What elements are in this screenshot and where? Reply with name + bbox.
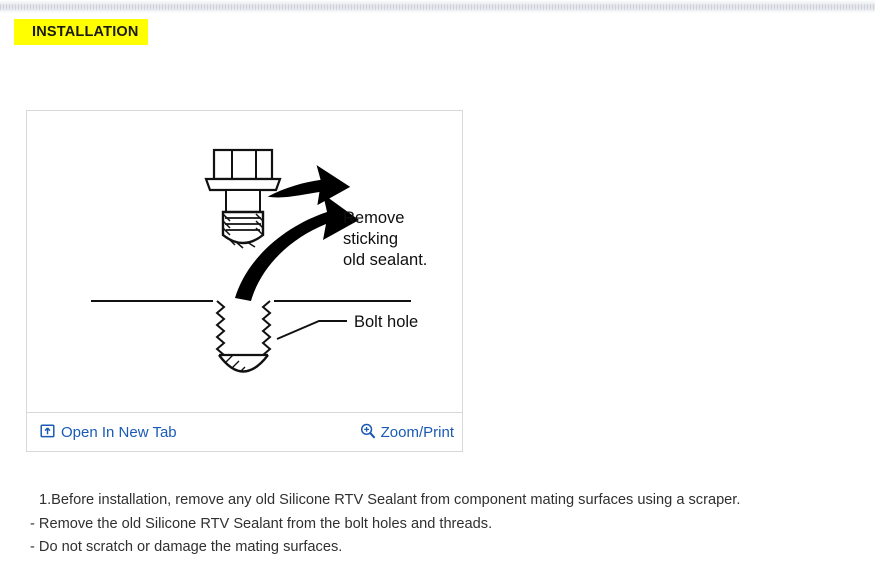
- annotation-line-3: old sealant.: [343, 251, 427, 269]
- open-in-new-tab-label: Open In New Tab: [61, 425, 177, 440]
- annotation-remove-sticking-old-sealant: Remove sticking old sealant.: [343, 209, 427, 269]
- open-in-new-tab-icon: [40, 423, 55, 441]
- bolt-hole-leader-line: [277, 321, 347, 339]
- bolt-hole-callout: Bolt hole: [277, 313, 418, 339]
- bolt-sealant-diagram: Remove sticking old sealant.: [27, 111, 462, 411]
- section-heading-highlight: INSTALLATION: [14, 19, 148, 45]
- annotation-line-1: Remove: [343, 209, 404, 227]
- annotation-bolt-hole: Bolt hole: [354, 313, 418, 331]
- figure-image[interactable]: Remove sticking old sealant.: [27, 111, 462, 411]
- instruction-line-3: - Do not scratch or damage the mating su…: [30, 536, 850, 560]
- figure-toolbar: Open In New Tab Zoom/Print: [27, 412, 462, 451]
- open-in-new-tab-button[interactable]: Open In New Tab: [40, 423, 177, 441]
- zoom-print-label: Zoom/Print: [381, 425, 454, 440]
- page-title: INSTALLATION: [32, 24, 139, 40]
- instruction-line-1: 1.Before installation, remove any old Si…: [30, 489, 850, 513]
- window-top-gradient-strip: [0, 0, 875, 13]
- figure-panel: Remove sticking old sealant.: [26, 110, 463, 452]
- instruction-text-block: 1.Before installation, remove any old Si…: [30, 489, 850, 560]
- bolt-hole-graphic: [207, 301, 275, 395]
- annotation-line-2: sticking: [343, 230, 398, 248]
- instruction-line-2: - Remove the old Silicone RTV Sealant fr…: [30, 513, 850, 537]
- bolt-graphic: [206, 150, 280, 248]
- zoom-print-button[interactable]: Zoom/Print: [360, 423, 454, 442]
- magnifier-plus-icon: [360, 423, 375, 442]
